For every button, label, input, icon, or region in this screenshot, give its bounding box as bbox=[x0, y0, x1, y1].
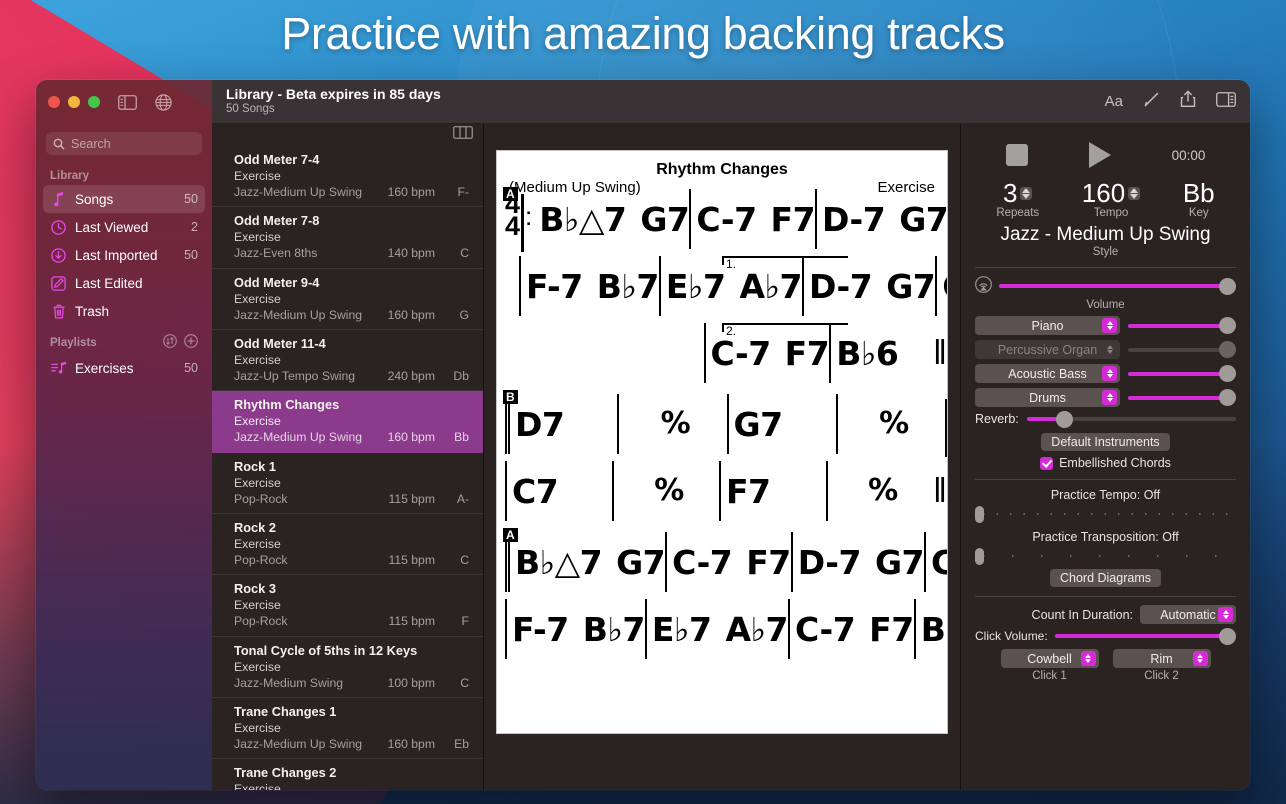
song-meta: Pop-Rock115 bpmA- bbox=[234, 491, 469, 507]
chord: D-7 bbox=[822, 203, 885, 236]
sidebar-item-count: 50 bbox=[184, 192, 198, 206]
click1-control: Cowbell Click 1 bbox=[1001, 649, 1099, 682]
song-row[interactable]: Trane Changes 1ExerciseJazz-Medium Up Sw… bbox=[212, 698, 483, 759]
song-bpm: 160 bpm bbox=[369, 429, 435, 445]
instrument-select-organ[interactable]: Percussive Organ bbox=[975, 340, 1120, 359]
ending-2-label: 2. bbox=[726, 324, 736, 338]
chord: F7 bbox=[785, 337, 830, 370]
library-header-label: Library bbox=[50, 170, 89, 182]
song-style: Jazz-Even 8ths bbox=[234, 245, 369, 261]
song-style: Jazz-Medium Up Swing bbox=[234, 429, 369, 445]
count-in-select[interactable]: Automatic bbox=[1140, 605, 1236, 624]
playlist-icon bbox=[50, 361, 67, 375]
measure: D-7G7 bbox=[815, 189, 948, 249]
embellished-chords-checkbox[interactable] bbox=[1040, 457, 1053, 470]
chord: A♭7 bbox=[739, 270, 802, 303]
music-note-icon bbox=[50, 192, 67, 206]
song-row[interactable]: Rock 1ExercisePop-Rock115 bpmA- bbox=[212, 453, 483, 514]
practice-tempo-label: Practice Tempo: Off bbox=[975, 488, 1236, 502]
song-list-scroll[interactable]: Odd Meter 7-4ExerciseJazz-Medium Up Swin… bbox=[212, 146, 483, 790]
chevron-updown-icon bbox=[1102, 318, 1117, 333]
repeat-measure-symbol: % bbox=[879, 409, 909, 439]
sidebar-item-label: Last Viewed bbox=[75, 220, 183, 235]
score-line: F-7B♭7 E♭7A♭7 C-7F7 B♭6 ‖ bbox=[497, 599, 947, 666]
score-line: A 44 : B♭△7G7 C-7F7 D-7G7 C-7F7 bbox=[497, 189, 947, 256]
staff: A 44 : B♭△7G7 C-7F7 D-7G7 C-7F7 bbox=[497, 189, 947, 666]
score-panel: Rhythm Changes (Medium Up Swing) Exercis… bbox=[484, 124, 960, 790]
song-bpm: 160 bpm bbox=[369, 307, 435, 323]
default-instruments-button[interactable]: Default Instruments bbox=[1041, 433, 1169, 451]
tempo-number: 160 bbox=[1082, 178, 1125, 209]
divider bbox=[975, 267, 1236, 268]
sidebar-item-label: Last Edited bbox=[75, 276, 190, 291]
score-title: Rhythm Changes bbox=[497, 161, 947, 179]
repeats-number: 3 bbox=[1003, 178, 1017, 209]
globe-icon[interactable] bbox=[155, 94, 172, 111]
instrument-select-piano[interactable]: Piano bbox=[975, 316, 1120, 335]
chord: C-7 bbox=[795, 613, 855, 646]
song-name: Trane Changes 1 bbox=[234, 703, 469, 720]
instrument-select-drums[interactable]: Drums bbox=[975, 388, 1120, 407]
measure: D-7G7 bbox=[802, 256, 935, 316]
repeat-measure-symbol: % bbox=[868, 476, 898, 506]
text-size-button[interactable]: Aa bbox=[1105, 93, 1123, 110]
chord: F-7 bbox=[512, 613, 569, 646]
chord: B♭6 bbox=[921, 613, 948, 646]
measure: % bbox=[617, 394, 726, 454]
measure: C-7F7 bbox=[935, 256, 948, 316]
column-view-icon[interactable] bbox=[453, 126, 473, 144]
measure: C-7F7 bbox=[704, 323, 830, 383]
measure: B♭△7G7 bbox=[534, 189, 689, 249]
add-icon[interactable] bbox=[184, 334, 198, 351]
song-name: Rhythm Changes bbox=[234, 396, 469, 413]
song-key: C bbox=[435, 552, 469, 568]
instrument-name: Acoustic Bass bbox=[1008, 367, 1087, 381]
style-label: Style bbox=[975, 246, 1236, 258]
practice-transposition-label: Practice Transposition: Off bbox=[975, 530, 1236, 544]
play-icon[interactable] bbox=[1089, 142, 1111, 168]
song-name: Rock 2 bbox=[234, 519, 469, 536]
section-marker-b: B bbox=[503, 390, 518, 404]
chord: F7 bbox=[726, 475, 771, 508]
song-row[interactable]: Odd Meter 7-4ExerciseJazz-Medium Up Swin… bbox=[212, 146, 483, 207]
sidebar-item-label: Songs bbox=[75, 192, 176, 207]
close-button[interactable] bbox=[48, 96, 60, 108]
measure: C7 bbox=[505, 461, 612, 521]
embellished-chords-label: Embellished Chords bbox=[1059, 456, 1171, 470]
song-artist: Exercise bbox=[234, 536, 469, 552]
measure: D-7G7 bbox=[791, 532, 924, 592]
song-bpm: 140 bpm bbox=[369, 245, 435, 261]
reverb-row: Reverb: bbox=[975, 412, 1236, 426]
sidebar-item-count: 2 bbox=[191, 220, 198, 234]
repeats-stepper[interactable] bbox=[1020, 187, 1032, 200]
default-instruments-row: Default Instruments bbox=[975, 433, 1236, 451]
instrument-volume-bass[interactable] bbox=[1128, 372, 1236, 376]
sidebar-item-count: 50 bbox=[184, 248, 198, 262]
inspector-panel: 00:00 3 Repeats 160 bbox=[960, 124, 1250, 790]
chord: F7 bbox=[869, 613, 914, 646]
repeat-measure-symbol: % bbox=[661, 409, 691, 439]
score-line: B D7 % G7 % bbox=[497, 394, 947, 461]
measure: C-7F7 bbox=[788, 599, 914, 659]
song-key: F- bbox=[435, 184, 469, 200]
chord: C-7 bbox=[696, 203, 756, 236]
song-meta: Pop-Rock115 bpmF bbox=[234, 613, 469, 629]
chord: G7 bbox=[734, 408, 783, 441]
instrument-volume-piano[interactable] bbox=[1128, 324, 1236, 328]
song-style: Pop-Rock bbox=[234, 613, 369, 629]
song-meta: Jazz-Medium Up Swing160 bpmEb bbox=[234, 736, 469, 752]
song-style: Pop-Rock bbox=[234, 552, 369, 568]
sidebar-toggle-icon[interactable] bbox=[118, 95, 137, 110]
song-row[interactable]: Tonal Cycle of 5ths in 12 KeysExerciseJa… bbox=[212, 637, 483, 698]
clock-icon bbox=[50, 220, 67, 235]
instrument-select-bass[interactable]: Acoustic Bass bbox=[975, 364, 1120, 383]
playlists-section-header: Playlists bbox=[36, 325, 212, 354]
song-artist: Exercise bbox=[234, 413, 469, 429]
song-style: Jazz-Up Tempo Swing bbox=[234, 368, 369, 384]
section-marker-a: A bbox=[503, 187, 518, 201]
song-style: Jazz-Medium Up Swing bbox=[234, 736, 369, 752]
chord: G7 bbox=[616, 546, 665, 579]
click1-label: Click 1 bbox=[1001, 670, 1099, 682]
chord: E♭7 bbox=[652, 613, 712, 646]
double-barline: ‖ bbox=[933, 464, 947, 518]
volume-label: Volume bbox=[975, 299, 1236, 311]
song-bpm: 115 bpm bbox=[369, 552, 435, 568]
song-style: Pop-Rock bbox=[234, 491, 369, 507]
chord: C-7 bbox=[711, 337, 771, 370]
tempo-stepper[interactable] bbox=[1128, 187, 1140, 200]
chord: G7 bbox=[640, 203, 689, 236]
sidebar-item-count: 50 bbox=[184, 361, 198, 375]
chord: D7 bbox=[515, 408, 564, 441]
click-volume-label: Click Volume: bbox=[975, 629, 1048, 643]
instrument-name: Percussive Organ bbox=[998, 343, 1097, 357]
song-row[interactable]: Odd Meter 7-8ExerciseJazz-Even 8ths140 b… bbox=[212, 207, 483, 268]
song-artist: Exercise bbox=[234, 291, 469, 307]
measure-spacer bbox=[505, 323, 704, 383]
repeat-measure-symbol: % bbox=[654, 476, 684, 506]
instrument-volume-drums[interactable] bbox=[1128, 396, 1236, 400]
chord: F7 bbox=[771, 203, 816, 236]
click2-select[interactable]: Rim bbox=[1113, 649, 1211, 668]
search-icon bbox=[53, 138, 65, 150]
repeats-value: 3 bbox=[996, 178, 1039, 209]
measure: F-7B♭7 bbox=[519, 256, 659, 316]
chevron-updown-icon bbox=[1193, 651, 1208, 666]
library-section-header: Library bbox=[36, 161, 212, 185]
instrument-row: Drums bbox=[975, 388, 1236, 407]
app-window: Search Library Songs 50 Last Viewed bbox=[36, 80, 1250, 790]
sidebar-item-last-imported[interactable]: Last Imported 50 bbox=[43, 241, 205, 269]
score-line: 2. C-7F7 B♭6 ‖ bbox=[497, 323, 947, 390]
measure: G7 bbox=[727, 394, 836, 454]
sidebar-item-last-edited[interactable]: Last Edited bbox=[43, 269, 205, 297]
song-style: Jazz-Medium Swing bbox=[234, 675, 369, 691]
song-meta: Jazz-Medium Swing100 bpmC bbox=[234, 675, 469, 691]
transport-controls: 00:00 bbox=[975, 134, 1236, 176]
song-name: Odd Meter 9-4 bbox=[234, 274, 469, 291]
reverb-slider[interactable] bbox=[1027, 417, 1236, 421]
click2-label: Click 2 bbox=[1113, 670, 1211, 682]
song-key: Bb bbox=[435, 429, 469, 445]
practice-tempo-slider[interactable] bbox=[975, 504, 1236, 524]
song-artist: Exercise bbox=[234, 781, 469, 790]
song-meta: Jazz-Medium Up Swing160 bpmG bbox=[234, 307, 469, 323]
window-titlebar: Library - Beta expires in 85 days 50 Son… bbox=[212, 80, 1250, 124]
song-key: C bbox=[435, 245, 469, 261]
sidebar: Search Library Songs 50 Last Viewed bbox=[36, 80, 212, 790]
song-name: Tonal Cycle of 5ths in 12 Keys bbox=[234, 642, 469, 659]
chord-diagrams-button[interactable]: Chord Diagrams bbox=[1050, 569, 1161, 587]
chord: A♭7 bbox=[725, 613, 788, 646]
chord: D-7 bbox=[809, 270, 872, 303]
click1-select[interactable]: Cowbell bbox=[1001, 649, 1099, 668]
instrument-row: Acoustic Bass bbox=[975, 364, 1236, 383]
song-style: Jazz-Medium Up Swing bbox=[234, 307, 369, 323]
tick-marks bbox=[983, 555, 1236, 557]
song-meta: Jazz-Even 8ths140 bpmC bbox=[234, 245, 469, 261]
song-row[interactable]: Rock 2ExercisePop-Rock115 bpmC bbox=[212, 514, 483, 575]
download-icon bbox=[50, 248, 67, 263]
song-row[interactable]: Odd Meter 9-4ExerciseJazz-Medium Up Swin… bbox=[212, 269, 483, 330]
repeats-label: Repeats bbox=[996, 207, 1039, 219]
song-list-header bbox=[212, 124, 483, 146]
sidebar-item-label: Trash bbox=[75, 304, 190, 319]
song-row[interactable]: Rock 3ExercisePop-Rock115 bpmF bbox=[212, 575, 483, 636]
library-nav: Songs 50 Last Viewed 2 Last Imported 50 bbox=[36, 185, 212, 325]
song-artist: Exercise bbox=[234, 168, 469, 184]
click-sounds-row: Cowbell Click 1 Rim Click 2 bbox=[975, 649, 1236, 682]
window-controls bbox=[36, 80, 212, 124]
chevron-updown-icon bbox=[1102, 342, 1117, 357]
measure: F7 bbox=[719, 461, 826, 521]
search-input[interactable]: Search bbox=[46, 132, 202, 155]
song-bpm: 240 bpm bbox=[369, 368, 435, 384]
chevron-updown-icon bbox=[1081, 651, 1096, 666]
style-display[interactable]: Jazz - Medium Up Swing Style bbox=[975, 224, 1236, 258]
pencil-square-icon bbox=[50, 276, 67, 291]
instrument-volume-organ[interactable] bbox=[1128, 348, 1236, 352]
measure: C-7F7 bbox=[689, 189, 815, 249]
zoom-button[interactable] bbox=[88, 96, 100, 108]
playlists-header-actions bbox=[163, 334, 198, 351]
score-line: C7 % F7 % ‖ bbox=[497, 461, 947, 528]
divider bbox=[975, 479, 1236, 480]
song-name: Rock 3 bbox=[234, 580, 469, 597]
chord: C-7 bbox=[942, 270, 948, 303]
instrument-name: Piano bbox=[1032, 319, 1064, 333]
playlists-header-label: Playlists bbox=[50, 337, 97, 349]
song-bpm: 115 bpm bbox=[369, 613, 435, 629]
song-parameters: 3 Repeats 160 Tempo bbox=[975, 178, 1236, 219]
page-headline: Practice with amazing backing tracks bbox=[0, 8, 1286, 60]
tempo-control: 160 Tempo bbox=[1082, 178, 1140, 219]
song-row[interactable]: Odd Meter 11-4ExerciseJazz-Up Tempo Swin… bbox=[212, 330, 483, 391]
measure: D7 bbox=[505, 394, 617, 454]
chevron-updown-icon bbox=[1102, 366, 1117, 381]
measure: B♭6 bbox=[914, 599, 948, 659]
song-artist: Exercise bbox=[234, 659, 469, 675]
song-artist: Exercise bbox=[234, 720, 469, 736]
chord: G7 bbox=[875, 546, 924, 579]
sidebar-item-last-viewed[interactable]: Last Viewed 2 bbox=[43, 213, 205, 241]
count-in-value: Automatic bbox=[1160, 608, 1216, 622]
sidebar-item-label: Last Imported bbox=[75, 248, 176, 263]
song-name: Odd Meter 11-4 bbox=[234, 335, 469, 352]
song-artist: Exercise bbox=[234, 352, 469, 368]
click-volume-slider[interactable] bbox=[1055, 634, 1236, 638]
chord: F-7 bbox=[526, 270, 583, 303]
score-line: A B♭△7G7 C-7F7 D-7G7 C-7F7 bbox=[497, 532, 947, 599]
sidebar-item-label: Exercises bbox=[75, 361, 176, 376]
key-value[interactable]: Bb bbox=[1183, 178, 1215, 209]
pencil-icon[interactable] bbox=[1143, 91, 1160, 113]
chord: C-7 bbox=[672, 546, 732, 579]
song-artist: Exercise bbox=[234, 229, 469, 245]
song-row-selected[interactable]: Rhythm ChangesExerciseJazz-Medium Up Swi… bbox=[212, 391, 483, 452]
song-meta: Jazz-Medium Up Swing160 bpmF- bbox=[234, 184, 469, 200]
main-area: Library - Beta expires in 85 days 50 Son… bbox=[212, 80, 1250, 790]
measure: % bbox=[836, 394, 945, 454]
song-name: Odd Meter 7-8 bbox=[234, 212, 469, 229]
playback-time: 00:00 bbox=[1172, 148, 1206, 163]
master-volume-slider[interactable] bbox=[999, 284, 1236, 288]
reverb-label: Reverb: bbox=[975, 412, 1019, 426]
measure: % bbox=[826, 461, 933, 521]
song-list-panel: Odd Meter 7-4ExerciseJazz-Medium Up Swin… bbox=[212, 124, 484, 790]
window-body: Search Library Songs 50 Last Viewed bbox=[36, 80, 1250, 790]
chevron-updown-icon bbox=[1102, 390, 1117, 405]
practice-transposition-slider[interactable] bbox=[975, 546, 1236, 566]
content-pane: Odd Meter 7-4ExerciseJazz-Medium Up Swin… bbox=[212, 124, 1250, 790]
chord: G7 bbox=[899, 203, 948, 236]
click2-value: Rim bbox=[1150, 652, 1172, 666]
divider bbox=[975, 596, 1236, 597]
song-meta: Jazz-Up Tempo Swing240 bpmDb bbox=[234, 368, 469, 384]
slider-knob[interactable] bbox=[975, 548, 984, 565]
click1-value: Cowbell bbox=[1027, 652, 1071, 666]
song-key: Db bbox=[435, 368, 469, 384]
tempo-value: 160 bbox=[1082, 178, 1140, 209]
inspector-toggle-icon[interactable] bbox=[1216, 92, 1236, 112]
slider-knob[interactable] bbox=[975, 506, 984, 523]
measure: B♭△7G7 bbox=[505, 532, 665, 592]
sidebar-item-songs[interactable]: Songs 50 bbox=[43, 185, 205, 213]
key-control: Bb Key bbox=[1183, 178, 1215, 219]
tick-marks bbox=[983, 513, 1236, 515]
toolbar-actions: Aa bbox=[1105, 90, 1236, 113]
embellished-chords-row[interactable]: Embellished Chords bbox=[975, 456, 1236, 470]
song-bpm: 160 bpm bbox=[369, 736, 435, 752]
song-bpm: 160 bpm bbox=[369, 184, 435, 200]
count-in-label: Count In Duration: bbox=[1032, 608, 1133, 622]
song-row[interactable]: Trane Changes 2ExerciseJazz-Medium Up Sw… bbox=[212, 759, 483, 790]
chevron-updown-icon bbox=[1218, 607, 1233, 622]
section-marker-a2: A bbox=[503, 528, 518, 542]
chord-diagrams-row: Chord Diagrams bbox=[975, 569, 1236, 587]
song-meta: Jazz-Medium Up Swing160 bpmBb bbox=[234, 429, 469, 445]
chord: E♭7 bbox=[666, 270, 726, 303]
trash-icon bbox=[50, 304, 67, 319]
chord: F7 bbox=[746, 546, 791, 579]
chord: D-7 bbox=[798, 546, 861, 579]
final-barline: ‖ bbox=[933, 326, 947, 380]
ending-1-bracket: 1. bbox=[722, 256, 848, 265]
song-name: Rock 1 bbox=[234, 458, 469, 475]
playlists-nav: Exercises 50 bbox=[36, 354, 212, 382]
title-block: Library - Beta expires in 85 days 50 Son… bbox=[226, 86, 441, 117]
chord: B♭7 bbox=[583, 613, 645, 646]
song-key: F bbox=[435, 613, 469, 629]
ending-2-bracket: 2. bbox=[722, 323, 848, 332]
count-in-row: Count In Duration: Automatic bbox=[975, 605, 1236, 624]
chord: B♭7 bbox=[597, 270, 659, 303]
airplay-icon[interactable] bbox=[975, 276, 992, 296]
chord: C7 bbox=[512, 475, 558, 508]
song-key: G bbox=[435, 307, 469, 323]
click2-control: Rim Click 2 bbox=[1113, 649, 1211, 682]
sidebar-item-exercises[interactable]: Exercises 50 bbox=[43, 354, 205, 382]
repeats-control: 3 Repeats bbox=[996, 178, 1039, 219]
master-volume-row bbox=[975, 276, 1236, 296]
page-subtitle: 50 Songs bbox=[226, 102, 441, 117]
chord: B♭△7 bbox=[515, 546, 602, 579]
click-volume-row: Click Volume: bbox=[975, 629, 1236, 643]
song-artist: Exercise bbox=[234, 475, 469, 491]
song-bpm: 115 bpm bbox=[369, 491, 435, 507]
chord: C-7 bbox=[931, 546, 948, 579]
chord: G7 bbox=[886, 270, 935, 303]
measure: C-7F7 bbox=[665, 532, 791, 592]
song-artist: Exercise bbox=[234, 597, 469, 613]
stop-icon[interactable] bbox=[1006, 144, 1028, 166]
measure: E♭7A♭7 bbox=[645, 599, 788, 659]
measure: C-7F7 bbox=[924, 532, 948, 592]
measure: B♭6 bbox=[829, 323, 933, 383]
instrument-name: Drums bbox=[1029, 391, 1066, 405]
measure: % bbox=[612, 461, 719, 521]
song-key: A- bbox=[435, 491, 469, 507]
measure: F-7B♭7 bbox=[505, 599, 645, 659]
style-value: Jazz - Medium Up Swing bbox=[975, 224, 1236, 246]
song-style: Jazz-Medium Up Swing bbox=[234, 184, 369, 200]
song-key: C bbox=[435, 675, 469, 691]
instrument-row: Percussive Organ bbox=[975, 340, 1236, 359]
chord: B♭△7 bbox=[539, 203, 626, 236]
song-meta: Pop-Rock115 bpmC bbox=[234, 552, 469, 568]
chord: B♭6 bbox=[836, 337, 898, 370]
instrument-row: Piano bbox=[975, 316, 1236, 335]
song-bpm: 100 bpm bbox=[369, 675, 435, 691]
page-title: Library - Beta expires in 85 days bbox=[226, 86, 441, 102]
minimize-button[interactable] bbox=[68, 96, 80, 108]
song-name: Trane Changes 2 bbox=[234, 764, 469, 781]
song-key: Eb bbox=[435, 736, 469, 752]
lead-sheet[interactable]: Rhythm Changes (Medium Up Swing) Exercis… bbox=[496, 150, 948, 734]
song-name: Odd Meter 7-4 bbox=[234, 151, 469, 168]
sidebar-item-trash[interactable]: Trash bbox=[43, 297, 205, 325]
share-icon[interactable] bbox=[1180, 90, 1196, 113]
search-placeholder: Search bbox=[71, 137, 111, 151]
sort-icon[interactable] bbox=[163, 334, 177, 351]
ending-1-label: 1. bbox=[726, 257, 736, 271]
score-line: 1. F-7B♭7 E♭7A♭7 D-7G7 C-7F7 :‖ bbox=[497, 256, 947, 323]
